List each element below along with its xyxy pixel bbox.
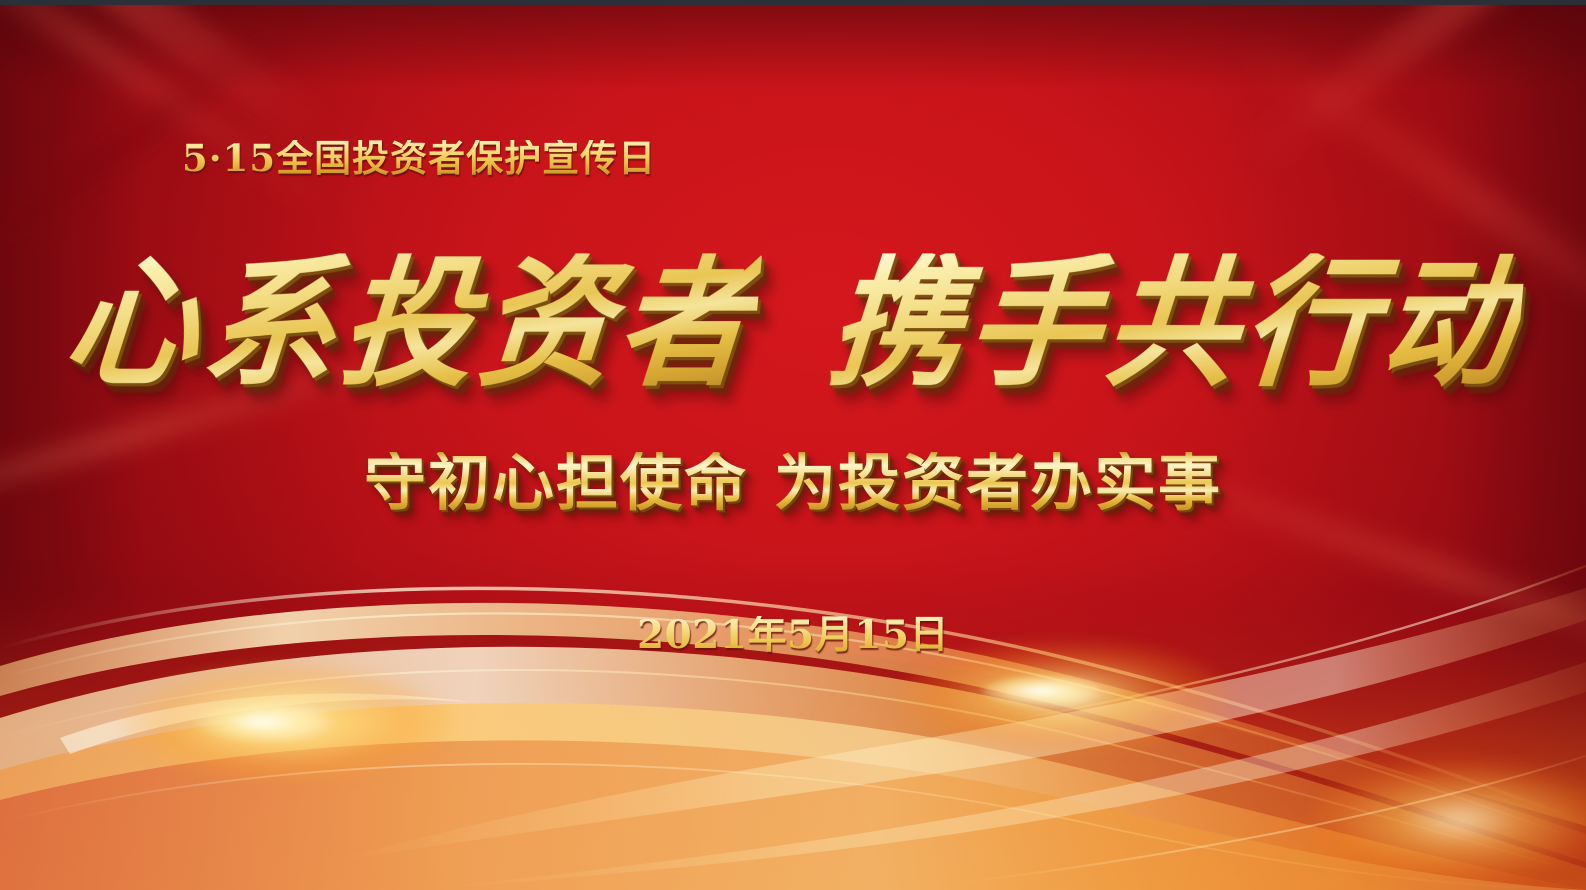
subtitle-part-second: 为投资者办实事 — [774, 452, 1222, 514]
headline-phrase-second: 携手共行动 — [824, 253, 1526, 394]
event-date-line: 2021年5月15日 — [0, 616, 1586, 655]
promotional-banner: 5·15全国投资者保护宣传日 心系投资者携手共行动 守初心担使命为投资者办实事 … — [0, 0, 1586, 890]
main-headline: 心系投资者携手共行动 — [0, 258, 1586, 390]
event-date-text: 2021年5月15日 — [637, 616, 949, 655]
subtitle-slogan: 守初心担使命为投资者办实事 — [0, 452, 1586, 514]
subtitle-part-first: 守初心担使命 — [364, 452, 748, 514]
headline-phrase-first: 心系投资者 — [60, 253, 762, 394]
banner-content: 5·15全国投资者保护宣传日 心系投资者携手共行动 守初心担使命为投资者办实事 … — [0, 0, 1586, 890]
event-eyebrow-label: 5·15全国投资者保护宣传日 — [182, 140, 656, 177]
